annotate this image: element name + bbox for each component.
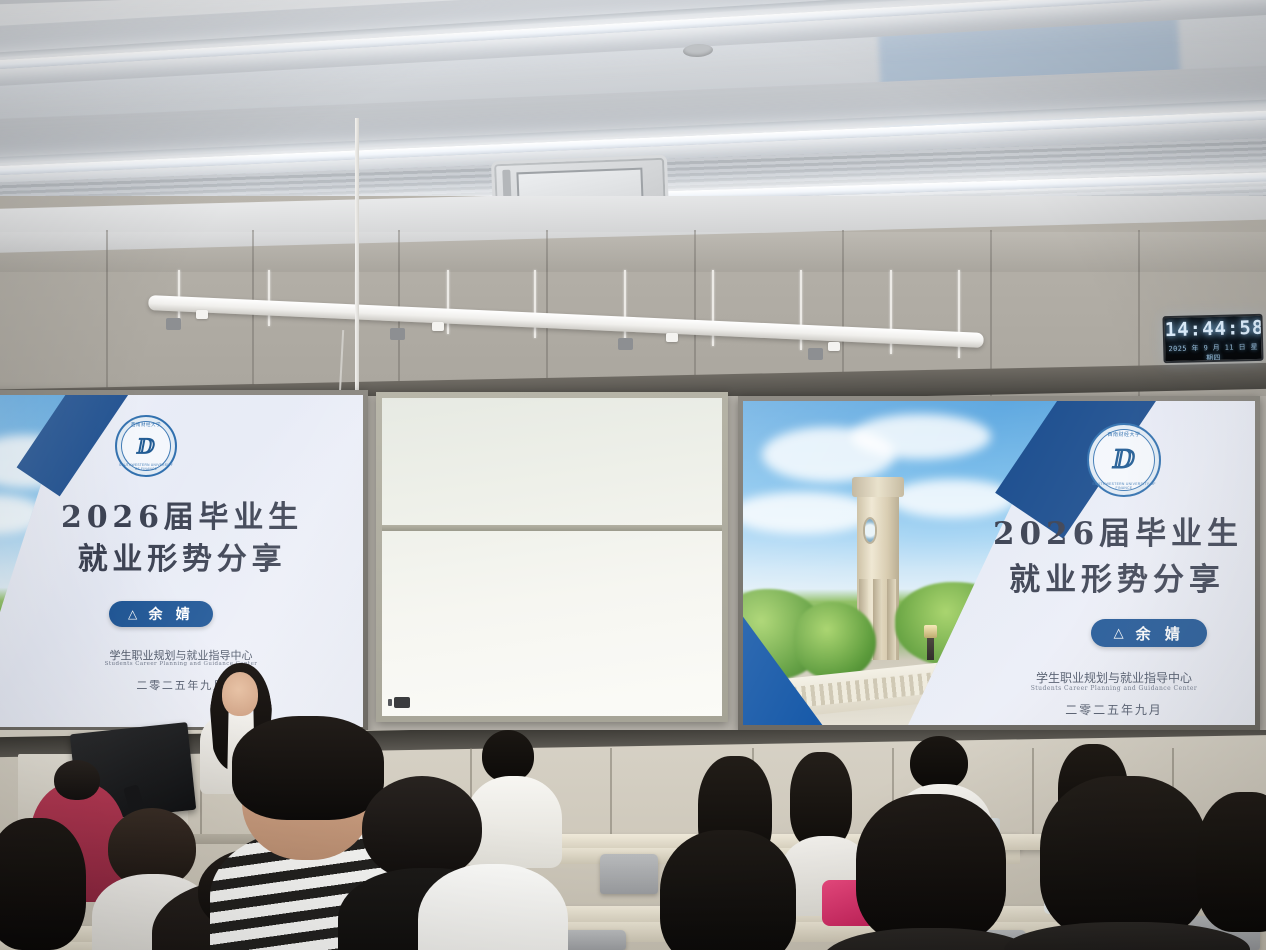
chair[interactable] bbox=[600, 854, 658, 894]
slide-title-line-1: 2026届毕业生 bbox=[9, 497, 355, 538]
department-name-en: Students Career Planning and Guidance Ce… bbox=[983, 685, 1245, 692]
slide-title-line-2: 就业形势分享 bbox=[9, 539, 355, 580]
seal-ring-text-cn: 西南财经大学 bbox=[1089, 431, 1159, 438]
graduation-cap-icon: △ bbox=[1114, 626, 1129, 641]
department-name-en: Students Career Planning and Guidance Ce… bbox=[5, 661, 357, 667]
slide-title-line-1: 2026届毕业生 bbox=[993, 513, 1241, 556]
slide-content: 西南财经大学 ⅅ SOUTHWESTERN UNIVERSITY OF FINA… bbox=[0, 395, 363, 727]
speaker-name: 余 婧 bbox=[148, 604, 193, 624]
whiteboard-eraser[interactable] bbox=[394, 697, 410, 708]
lecture-hall-photo: 14:44:58 2025 年 9 月 11 日 星期四 bbox=[0, 0, 1266, 950]
seal-monogram: ⅅ bbox=[137, 434, 155, 459]
lamp-post bbox=[927, 634, 934, 660]
slide-date: 二零二五年九月 bbox=[5, 677, 357, 693]
slide-date: 二零二五年九月 bbox=[983, 701, 1245, 718]
left-projection-screen[interactable]: 西南财经大学 ⅅ SOUTHWESTERN UNIVERSITY OF FINA… bbox=[0, 390, 368, 732]
graduation-cap-icon: △ bbox=[128, 607, 141, 621]
whiteboard-divider bbox=[382, 525, 722, 531]
seal-ring-text-en: SOUTHWESTERN UNIVERSITY OF FINANCE bbox=[1089, 482, 1159, 490]
speaker-badge: △ 余 婧 bbox=[1091, 619, 1207, 647]
slide-title-line-2: 就业形势分享 bbox=[993, 559, 1241, 602]
seal-ring-text-cn: 西南财经大学 bbox=[117, 422, 175, 428]
whiteboard-surface[interactable] bbox=[382, 398, 722, 716]
speaker-name: 余 婧 bbox=[1136, 623, 1185, 644]
display-wall: 西南财经大学 ⅅ SOUTHWESTERN UNIVERSITY OF FINA… bbox=[0, 378, 1266, 740]
chair[interactable] bbox=[560, 930, 626, 950]
support-pole bbox=[355, 118, 359, 418]
seal-monogram: ⅅ bbox=[1113, 445, 1136, 475]
university-seal-logo: 西南财经大学 ⅅ SOUTHWESTERN UNIVERSITY OF FINA… bbox=[115, 415, 177, 477]
seal-ring-text-en: SOUTHWESTERN UNIVERSITY OF FINANCE bbox=[117, 463, 175, 471]
department-name-cn: 学生职业规划与就业指导中心 bbox=[983, 669, 1245, 686]
right-projection-screen[interactable]: 西南财经大学 ⅅ SOUTHWESTERN UNIVERSITY OF FINA… bbox=[738, 396, 1260, 730]
speaker-badge: △ 余 婧 bbox=[109, 601, 213, 627]
university-seal-logo: 西南财经大学 ⅅ SOUTHWESTERN UNIVERSITY OF FINA… bbox=[1087, 423, 1161, 497]
slide-content: 西南财经大学 ⅅ SOUTHWESTERN UNIVERSITY OF FINA… bbox=[743, 401, 1255, 725]
center-whiteboard[interactable] bbox=[376, 392, 728, 722]
